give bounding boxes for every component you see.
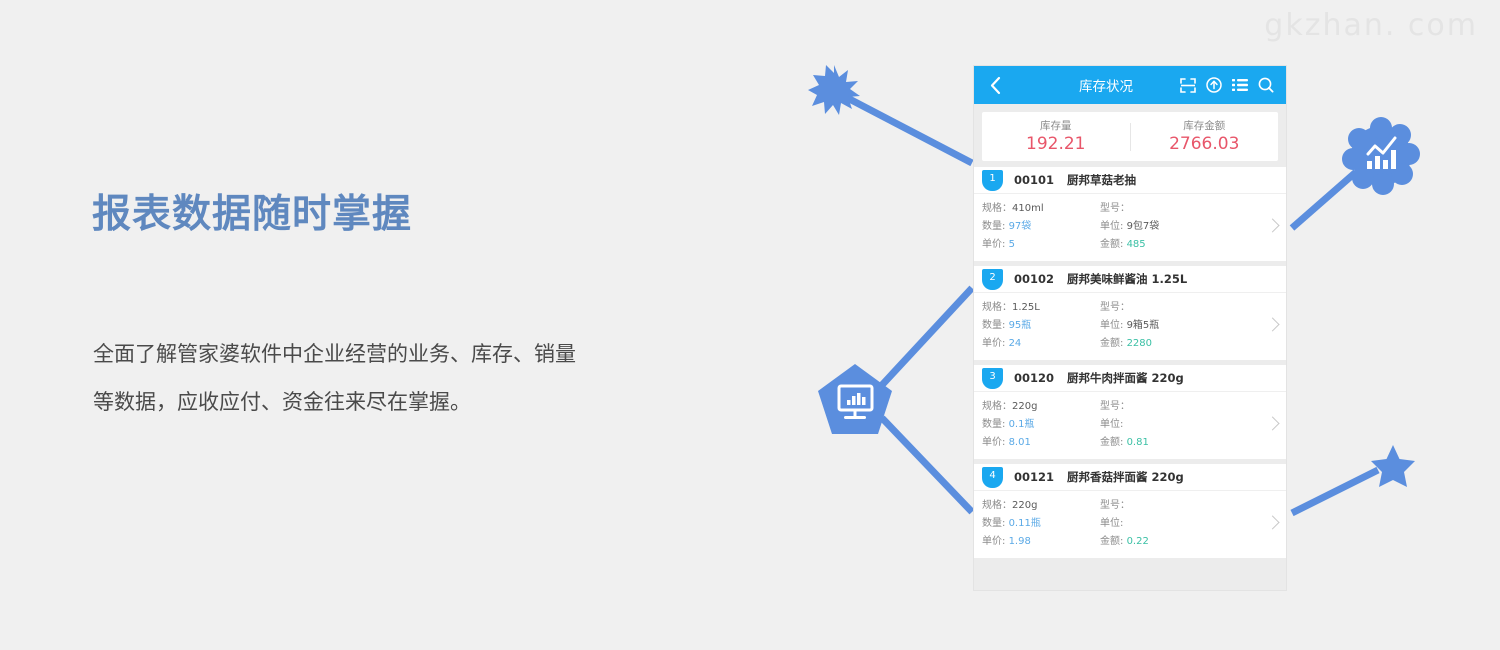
- row-column-left: 规格：220g 数量: 0.1瓶 单价: 8.01: [982, 398, 1100, 452]
- table-row[interactable]: 1 00101 厨邦草菇老抽 规格：410ml 数量: 97袋 单价: 5 型号…: [974, 167, 1286, 261]
- field-qty: 数量: 0.1瓶: [982, 416, 1100, 434]
- marketing-copy: 报表数据随时掌握: [92, 192, 612, 239]
- chevron-left-icon[interactable]: [984, 74, 1006, 96]
- row-column-left: 规格：410ml 数量: 97袋 单价: 5: [982, 200, 1100, 254]
- field-value: 0.1瓶: [1009, 419, 1035, 430]
- field-amount: 金额: 0.81: [1100, 434, 1240, 452]
- field-label: 规格：: [982, 401, 1012, 412]
- field-price: 单价: 8.01: [982, 434, 1100, 452]
- field-price: 单价: 1.98: [982, 533, 1100, 551]
- chevron-right-icon[interactable]: [1256, 491, 1286, 558]
- field-value: 0.11瓶: [1009, 518, 1041, 529]
- field-label: 单位:: [1100, 419, 1123, 430]
- field-spec: 规格：410ml: [982, 200, 1100, 218]
- row-header: 1 00101 厨邦草菇老抽: [974, 167, 1286, 194]
- row-header: 4 00121 厨邦香菇拌面酱 220g: [974, 464, 1286, 491]
- scalloped-bar-chart-icon: [1341, 116, 1421, 196]
- watermark: gkzhan. com: [1264, 8, 1478, 43]
- product-name: 厨邦美味鲜酱油 1.25L: [1067, 271, 1187, 287]
- row-header: 2 00102 厨邦美味鲜酱油 1.25L: [974, 266, 1286, 293]
- row-index-badge: 2: [982, 269, 1003, 290]
- product-code: 00101: [1014, 173, 1054, 187]
- field-model: 型号：: [1100, 398, 1240, 416]
- field-price: 单价: 24: [982, 335, 1100, 353]
- product-name: 厨邦草菇老抽: [1067, 172, 1136, 188]
- summary-card-wrap: 库存量 192.21 库存金额 2766.03: [974, 104, 1286, 161]
- field-value: 410ml: [1012, 203, 1044, 214]
- row-index-badge: 1: [982, 170, 1003, 191]
- summary-cell-stock-qty: 库存量 192.21: [982, 119, 1130, 155]
- field-label: 单位:: [1100, 320, 1123, 331]
- row-column-right: 型号： 单位: 金额: 0.81: [1100, 398, 1240, 452]
- field-label: 单价:: [982, 536, 1005, 547]
- page-title: 报表数据随时掌握: [92, 192, 612, 239]
- summary-card: 库存量 192.21 库存金额 2766.03: [982, 112, 1278, 161]
- product-code: 00120: [1014, 371, 1054, 385]
- row-details: 规格：410ml 数量: 97袋 单价: 5 型号： 单位: 9包7袋 金额: …: [974, 194, 1286, 261]
- field-label: 数量:: [982, 221, 1005, 232]
- poster-stage: gkzhan. com 报表数据随时掌握 全面了解管家婆软件中企业经营的业务、库…: [0, 0, 1500, 650]
- field-label: 单位:: [1100, 518, 1123, 529]
- field-label: 单位:: [1100, 221, 1123, 232]
- field-unit: 单位:: [1100, 416, 1240, 434]
- field-value: 485: [1127, 239, 1146, 250]
- field-value: 95瓶: [1009, 320, 1032, 331]
- list-icon[interactable]: [1232, 78, 1248, 92]
- field-unit: 单位: 9箱5瓶: [1100, 317, 1240, 335]
- field-label: 型号：: [1100, 401, 1130, 412]
- field-label: 金额:: [1100, 239, 1123, 250]
- app-panel: 库存状况: [974, 66, 1286, 590]
- field-value: 220g: [1012, 401, 1037, 412]
- table-row[interactable]: 3 00120 厨邦牛肉拌面酱 220g 规格：220g 数量: 0.1瓶 单价…: [974, 365, 1286, 459]
- row-header: 3 00120 厨邦牛肉拌面酱 220g: [974, 365, 1286, 392]
- field-label: 金额:: [1100, 536, 1123, 547]
- field-label: 型号：: [1100, 302, 1130, 313]
- table-row[interactable]: 4 00121 厨邦香菇拌面酱 220g 规格：220g 数量: 0.11瓶 单…: [974, 464, 1286, 558]
- field-model: 型号：: [1100, 497, 1240, 515]
- product-name: 厨邦牛肉拌面酱 220g: [1067, 370, 1184, 386]
- row-index-badge: 3: [982, 368, 1003, 389]
- field-value: 97袋: [1009, 221, 1032, 232]
- field-value: 220g: [1012, 500, 1037, 511]
- search-icon[interactable]: [1258, 77, 1274, 93]
- field-label: 金额:: [1100, 437, 1123, 448]
- summary-label: 库存金额: [1131, 119, 1279, 134]
- field-value: 9包7袋: [1127, 221, 1160, 232]
- field-spec: 规格：220g: [982, 497, 1100, 515]
- summary-value: 2766.03: [1131, 134, 1279, 155]
- field-spec: 规格：220g: [982, 398, 1100, 416]
- field-label: 单价:: [982, 437, 1005, 448]
- field-model: 型号：: [1100, 200, 1240, 218]
- field-qty: 数量: 0.11瓶: [982, 515, 1100, 533]
- summary-cell-stock-amount: 库存金额 2766.03: [1131, 119, 1279, 155]
- table-row[interactable]: 2 00102 厨邦美味鲜酱油 1.25L 规格：1.25L 数量: 95瓶 单…: [974, 266, 1286, 360]
- row-details: 规格：1.25L 数量: 95瓶 单价: 24 型号： 单位: 9箱5瓶 金额:…: [974, 293, 1286, 360]
- field-value: 0.81: [1127, 437, 1149, 448]
- star-icon: [1370, 443, 1416, 489]
- row-column-right: 型号： 单位: 金额: 0.22: [1100, 497, 1240, 551]
- field-value: 0.22: [1127, 536, 1149, 547]
- field-label: 规格：: [982, 500, 1012, 511]
- app-bar-actions: [1180, 77, 1276, 93]
- field-label: 数量:: [982, 518, 1005, 529]
- summary-label: 库存量: [982, 119, 1130, 134]
- field-amount: 金额: 0.22: [1100, 533, 1240, 551]
- row-column-left: 规格：220g 数量: 0.11瓶 单价: 1.98: [982, 497, 1100, 551]
- field-value: 5: [1009, 239, 1015, 250]
- field-label: 规格：: [982, 302, 1012, 313]
- field-label: 规格：: [982, 203, 1012, 214]
- summary-value: 192.21: [982, 134, 1130, 155]
- app-bar-title: 库存状况: [1006, 75, 1180, 95]
- field-label: 型号：: [1100, 203, 1130, 214]
- field-spec: 规格：1.25L: [982, 299, 1100, 317]
- product-code: 00102: [1014, 272, 1054, 286]
- product-name: 厨邦香菇拌面酱 220g: [1067, 469, 1184, 485]
- field-value: 9箱5瓶: [1127, 320, 1160, 331]
- field-value: 1.98: [1009, 536, 1031, 547]
- marketing-body-text: 全面了解管家婆软件中企业经营的业务、库存、销量等数据，应收应付、资金往来尽在掌握…: [93, 330, 593, 426]
- scan-frame-icon[interactable]: [1180, 78, 1196, 93]
- field-unit: 单位:: [1100, 515, 1240, 533]
- app-bar: 库存状况: [974, 66, 1286, 104]
- row-details: 规格：220g 数量: 0.1瓶 单价: 8.01 型号： 单位: 金额: 0.…: [974, 392, 1286, 459]
- field-value: 1.25L: [1012, 302, 1040, 313]
- circle-up-arrow-icon[interactable]: [1206, 77, 1222, 93]
- field-label: 金额:: [1100, 338, 1123, 349]
- field-label: 型号：: [1100, 500, 1130, 511]
- chevron-right-icon[interactable]: [1256, 293, 1286, 360]
- product-code: 00121: [1014, 470, 1054, 484]
- field-qty: 数量: 97袋: [982, 218, 1100, 236]
- row-column-left: 规格：1.25L 数量: 95瓶 单价: 24: [982, 299, 1100, 353]
- field-label: 数量:: [982, 320, 1005, 331]
- field-value: 2280: [1127, 338, 1152, 349]
- row-column-right: 型号： 单位: 9包7袋 金额: 485: [1100, 200, 1240, 254]
- field-amount: 金额: 485: [1100, 236, 1240, 254]
- field-unit: 单位: 9包7袋: [1100, 218, 1240, 236]
- field-model: 型号：: [1100, 299, 1240, 317]
- chevron-right-icon[interactable]: [1256, 392, 1286, 459]
- row-column-right: 型号： 单位: 9箱5瓶 金额: 2280: [1100, 299, 1240, 353]
- field-price: 单价: 5: [982, 236, 1100, 254]
- field-value: 8.01: [1009, 437, 1031, 448]
- pentagon-monitor-chart-icon: [816, 362, 894, 438]
- row-index-badge: 4: [982, 467, 1003, 488]
- field-label: 单价:: [982, 338, 1005, 349]
- row-details: 规格：220g 数量: 0.11瓶 单价: 1.98 型号： 单位: 金额: 0…: [974, 491, 1286, 558]
- field-amount: 金额: 2280: [1100, 335, 1240, 353]
- inventory-list: 1 00101 厨邦草菇老抽 规格：410ml 数量: 97袋 单价: 5 型号…: [974, 167, 1286, 558]
- field-label: 单价:: [982, 239, 1005, 250]
- field-label: 数量:: [982, 419, 1005, 430]
- starburst-icon: [808, 63, 860, 117]
- field-value: 24: [1009, 338, 1022, 349]
- field-qty: 数量: 95瓶: [982, 317, 1100, 335]
- chevron-right-icon[interactable]: [1256, 194, 1286, 261]
